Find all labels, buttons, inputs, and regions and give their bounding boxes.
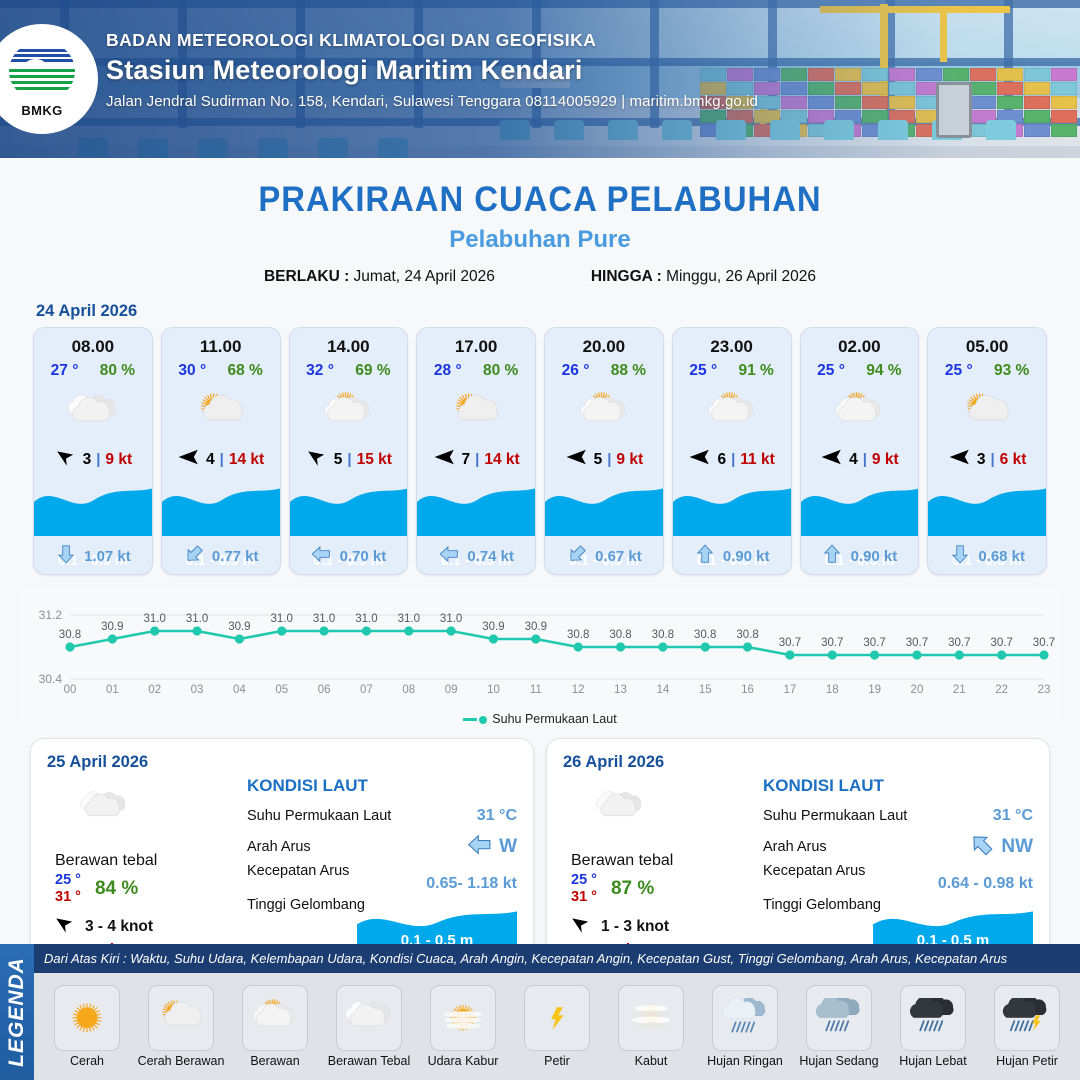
card-temperature: 25 °	[817, 362, 845, 380]
card-wind-direction: 3	[83, 451, 92, 469]
svg-text:30.7: 30.7	[779, 637, 801, 649]
sea-row-current-dir: Arah ArusNW	[763, 831, 1033, 863]
page-title: PRAKIRAAN CUACA PELABUHAN	[32, 180, 1047, 220]
svg-text:30.8: 30.8	[609, 629, 631, 641]
daily-date: 26 April 2026	[563, 753, 1033, 772]
svg-text:30.9: 30.9	[101, 621, 123, 633]
card-humidity: 68 %	[227, 362, 262, 380]
svg-text:05: 05	[275, 684, 288, 696]
svg-text:00: 00	[64, 684, 77, 696]
legend-icon-tile	[994, 985, 1060, 1051]
legend-item-label: Berawan Tebal	[328, 1054, 410, 1068]
svg-text:09: 09	[445, 684, 458, 696]
legend-item-label: Cerah Berawan	[138, 1054, 225, 1068]
legend-icon-tile	[430, 985, 496, 1051]
current-direction-arrow-icon	[183, 543, 205, 570]
legend-items-row: CerahCerah BerawanBerawanBerawan TebalUd…	[34, 973, 1080, 1080]
daily-sea-column: KONDISI LAUTSuhu Permukaan Laut31 °CArah…	[753, 776, 1033, 958]
svg-text:15: 15	[699, 684, 712, 696]
daily-humidity: 84 %	[95, 878, 138, 900]
card-weather-icon	[928, 382, 1046, 444]
card-current-speed: 1.07 kt	[84, 548, 131, 565]
card-time: 02.00	[801, 328, 919, 357]
card-temperature: 26 °	[562, 362, 590, 380]
wind-direction-arrow-icon	[177, 448, 201, 471]
legend-item: Hujan Sedang	[792, 985, 886, 1068]
current-direction-arrow-icon	[310, 543, 332, 570]
legend-item-label: Udara Kabur	[428, 1054, 499, 1068]
legend-area: LEGENDA Dari Atas Kiri : Waktu, Suhu Uda…	[0, 944, 1080, 1080]
sea-row-sst: Suhu Permukaan Laut31 °C	[763, 801, 1033, 831]
forecast-card[interactable]: 23.0025 °91 %6|11 kt0.1 - 0.5 m0.90 kt	[672, 327, 792, 575]
card-current-speed: 0.90 kt	[723, 548, 770, 565]
daily-wind-range: 1 - 3 knot	[601, 918, 669, 936]
svg-text:31.0: 31.0	[144, 613, 166, 625]
legend-item-label: Hujan Petir	[996, 1054, 1058, 1068]
daily-temp-column: 25 °31 °	[571, 872, 597, 905]
svg-text:12: 12	[572, 684, 585, 696]
card-wave-graphic	[34, 480, 152, 536]
card-wind-direction: 7	[462, 451, 471, 469]
sst-value: 31 °C	[993, 807, 1033, 825]
svg-text:11: 11	[530, 684, 542, 696]
daily-wind-arrow-icon	[53, 915, 77, 938]
card-current-speed: 0.67 kt	[595, 548, 642, 565]
card-weather-icon	[417, 382, 535, 444]
svg-text:14: 14	[656, 684, 669, 696]
card-wind-direction: 6	[717, 451, 726, 469]
svg-text:30.9: 30.9	[228, 621, 250, 633]
card-temp-hum: 25 °91 %	[673, 357, 791, 380]
card-wind-separator: |	[220, 451, 224, 468]
daily-wind-row: 3 - 4 knot	[47, 915, 237, 938]
legend-main: Dari Atas Kiri : Waktu, Suhu Udara, Kele…	[34, 944, 1080, 1080]
card-current-row: 0.90 kt	[673, 543, 791, 570]
header-banner: BMKG BADAN METEOROLOGI KLIMATOLOGI DAN G…	[0, 0, 1080, 158]
sst-label: Suhu Permukaan Laut	[247, 808, 391, 824]
card-wind-separator: |	[990, 451, 994, 468]
card-wind-separator: |	[731, 451, 735, 468]
card-time: 08.00	[34, 328, 152, 357]
legend-icon-tile	[524, 985, 590, 1051]
card-wind-direction: 5	[334, 451, 343, 469]
card-temperature: 27 °	[51, 362, 79, 380]
legend-item-label: Hujan Lebat	[899, 1054, 966, 1068]
wind-direction-arrow-icon	[820, 448, 844, 471]
forecast-cards-row: 08.0027 °80 %3|9 kt0.1 - 0.5 m1.07 kt11.…	[0, 327, 1080, 575]
legend-item-label: Hujan Sedang	[799, 1054, 878, 1068]
card-temp-hum: 26 °88 %	[545, 357, 663, 380]
svg-text:30.7: 30.7	[863, 637, 885, 649]
current-dir-value: NW	[1001, 836, 1033, 858]
svg-text:04: 04	[233, 684, 246, 696]
daily-weather-icon	[47, 780, 237, 836]
svg-text:20: 20	[911, 684, 924, 696]
forecast-card[interactable]: 20.0026 °88 %5|9 kt0.1 - 0.5 m0.67 kt	[544, 327, 664, 575]
svg-text:30.8: 30.8	[652, 629, 674, 641]
daily-wind-row: 1 - 3 knot	[563, 915, 753, 938]
svg-text:02: 02	[148, 684, 161, 696]
card-humidity: 80 %	[100, 362, 135, 380]
card-temperature: 32 °	[306, 362, 334, 380]
card-wind-speed: 6 kt	[1000, 451, 1027, 469]
card-wave-graphic	[928, 480, 1046, 536]
svg-text:08: 08	[402, 684, 415, 696]
sea-conditions-title: KONDISI LAUT	[763, 776, 1033, 796]
card-wind-direction: 4	[206, 451, 215, 469]
forecast-card[interactable]: 14.0032 °69 %5|15 kt0.1 - 0.5 m0.70 kt	[289, 327, 409, 575]
svg-text:16: 16	[741, 684, 754, 696]
legend-item: Cerah Berawan	[134, 985, 228, 1068]
card-temperature: 28 °	[434, 362, 462, 380]
card-wind-separator: |	[347, 451, 351, 468]
svg-text:31.0: 31.0	[271, 613, 293, 625]
wind-direction-arrow-icon	[305, 448, 329, 471]
card-wind-row: 6|11 kt	[673, 444, 791, 473]
card-weather-icon	[34, 382, 152, 444]
legend-icon-tile	[900, 985, 966, 1051]
svg-text:22: 22	[995, 684, 1008, 696]
legend-icon-tile	[336, 985, 402, 1051]
svg-text:01: 01	[106, 684, 119, 696]
daily-current-arrow-icon	[968, 831, 995, 863]
svg-text:07: 07	[360, 684, 373, 696]
card-humidity: 88 %	[611, 362, 646, 380]
svg-text:31.0: 31.0	[313, 613, 335, 625]
card-wave-graphic	[290, 480, 408, 536]
sst-value: 31 °C	[477, 807, 517, 825]
legend-icon-tile	[712, 985, 778, 1051]
svg-text:30.4: 30.4	[39, 672, 63, 686]
forecast-card[interactable]: 08.0027 °80 %3|9 kt0.1 - 0.5 m1.07 kt	[33, 327, 153, 575]
card-wave-graphic	[801, 480, 919, 536]
daily-body: Berawan tebal25 °31 °87 %1 - 3 knot10 kt…	[563, 776, 1033, 958]
card-wind-separator: |	[863, 451, 867, 468]
daily-temp-min: 25 °	[55, 872, 81, 889]
forecast-card[interactable]: 11.0030 °68 %4|14 kt0.1 - 0.5 m0.77 kt	[161, 327, 281, 575]
card-current-row: 0.90 kt	[801, 543, 919, 570]
card-weather-icon	[801, 382, 919, 444]
legend-item: Kabut	[604, 985, 698, 1068]
card-weather-icon	[162, 382, 280, 444]
legend-icon-tile	[806, 985, 872, 1051]
card-current-speed: 0.74 kt	[467, 548, 514, 565]
svg-text:30.7: 30.7	[821, 637, 843, 649]
forecast-date: 24 April 2026	[36, 302, 1080, 321]
card-weather-icon	[545, 382, 663, 444]
daily-condition: Berawan tebal	[563, 852, 753, 870]
card-wind-speed: 11 kt	[740, 451, 774, 469]
sea-row-current-dir: Arah ArusW	[247, 831, 517, 863]
legend-icon-tile	[618, 985, 684, 1051]
svg-text:30.9: 30.9	[482, 621, 504, 633]
card-current-row: 0.70 kt	[290, 543, 408, 570]
legend-item-label: Cerah	[70, 1054, 104, 1068]
card-current-row: 0.77 kt	[162, 543, 280, 570]
svg-text:31.0: 31.0	[440, 613, 462, 625]
card-temp-hum: 28 °80 %	[417, 357, 535, 380]
daily-condition: Berawan tebal	[47, 852, 237, 870]
svg-text:10: 10	[487, 684, 500, 696]
daily-wind-range: 3 - 4 knot	[85, 918, 153, 936]
svg-text:23: 23	[1038, 684, 1051, 696]
legend-item-label: Hujan Ringan	[707, 1054, 783, 1068]
legend-item: Hujan Ringan	[698, 985, 792, 1068]
svg-text:30.8: 30.8	[567, 629, 589, 641]
sea-row-current-speed: Kecepatan Arus0.64 - 0.98 kt	[763, 863, 1033, 893]
svg-text:13: 13	[614, 684, 627, 696]
legend-item: Cerah	[40, 985, 134, 1068]
bmkg-logo-mark	[9, 41, 75, 101]
card-wave-graphic	[673, 480, 791, 536]
card-wind-row: 4|14 kt	[162, 444, 280, 473]
legend-side-label: LEGENDA	[5, 957, 29, 1067]
card-temp-hum: 27 °80 %	[34, 357, 152, 380]
current-dir-label: Arah Arus	[763, 839, 827, 855]
header-text-block: BADAN METEOROLOGI KLIMATOLOGI DAN GEOFIS…	[106, 30, 758, 110]
card-wind-speed: 15 kt	[357, 451, 392, 469]
current-direction-arrow-icon	[566, 543, 588, 570]
daily-humidity: 87 %	[611, 878, 654, 900]
card-time: 23.00	[673, 328, 791, 357]
card-wind-row: 3|9 kt	[34, 444, 152, 473]
card-temp-hum: 30 °68 %	[162, 357, 280, 380]
legend-item: Hujan Lebat	[886, 985, 980, 1068]
wind-direction-arrow-icon	[433, 448, 457, 471]
svg-text:31.2: 31.2	[39, 608, 63, 622]
card-time: 11.00	[162, 328, 280, 357]
card-temp-hum: 25 °94 %	[801, 357, 919, 380]
legend-item: Udara Kabur	[416, 985, 510, 1068]
page-subtitle: Pelabuhan Pure	[0, 226, 1080, 254]
svg-text:30.8: 30.8	[694, 629, 716, 641]
sea-row-sst: Suhu Permukaan Laut31 °C	[247, 801, 517, 831]
daily-temp-min: 25 °	[571, 872, 597, 889]
hingga-group: HINGGA : Minggu, 26 April 2026	[591, 268, 816, 286]
card-wind-row: 5|15 kt	[290, 444, 408, 473]
card-wind-direction: 3	[977, 451, 986, 469]
hingga-label: HINGGA :	[591, 268, 662, 285]
current-dir-value: W	[499, 836, 517, 858]
card-current-row: 0.74 kt	[417, 543, 535, 570]
legend-icon-tile	[242, 985, 308, 1051]
legend-item-label: Petir	[544, 1054, 570, 1068]
svg-text:30.7: 30.7	[906, 637, 928, 649]
legend-series-label: Suhu Permukaan Laut	[492, 712, 616, 726]
legend-side-bar: LEGENDA	[0, 944, 34, 1080]
card-wind-speed: 14 kt	[229, 451, 264, 469]
legend-item: Hujan Petir	[980, 985, 1074, 1068]
legend-dot-swatch	[479, 716, 487, 724]
card-current-row: 0.68 kt	[928, 543, 1046, 570]
current-dir-value-group: W	[466, 831, 517, 863]
card-wind-row: 7|14 kt	[417, 444, 535, 473]
card-wind-row: 4|9 kt	[801, 444, 919, 473]
card-humidity: 80 %	[483, 362, 518, 380]
sea-row-current-speed: Kecepatan Arus0.65- 1.18 kt	[247, 863, 517, 893]
svg-text:30.9: 30.9	[525, 621, 547, 633]
validity-row: BERLAKU : Jumat, 24 April 2026 HINGGA : …	[0, 268, 1080, 286]
card-wind-direction: 4	[849, 451, 858, 469]
card-wind-separator: |	[96, 451, 100, 468]
legend-line-swatch	[463, 718, 477, 721]
card-humidity: 94 %	[866, 362, 901, 380]
card-time: 20.00	[545, 328, 663, 357]
svg-text:19: 19	[868, 684, 881, 696]
card-wind-row: 5|9 kt	[545, 444, 663, 473]
card-humidity: 93 %	[994, 362, 1029, 380]
daily-temp-max: 31 °	[571, 889, 597, 906]
berlaku-group: BERLAKU : Jumat, 24 April 2026	[264, 268, 495, 286]
sst-chart: 31.230.430.80030.90131.00231.00330.90431…	[22, 587, 1058, 728]
card-wind-speed: 9 kt	[616, 451, 643, 469]
card-temperature: 30 °	[178, 362, 206, 380]
svg-text:31.0: 31.0	[398, 613, 420, 625]
legend-note: Dari Atas Kiri : Waktu, Suhu Udara, Kele…	[34, 944, 1080, 973]
card-wave-graphic	[417, 480, 535, 536]
wind-direction-arrow-icon	[565, 448, 589, 471]
card-temp-hum: 32 °69 %	[290, 357, 408, 380]
card-temp-hum: 25 °93 %	[928, 357, 1046, 380]
daily-current-arrow-icon	[466, 831, 493, 863]
wind-direction-arrow-icon	[948, 448, 972, 471]
svg-text:03: 03	[191, 684, 204, 696]
card-temperature: 25 °	[689, 362, 717, 380]
card-weather-icon	[673, 382, 791, 444]
station-name: Stasiun Meteorologi Maritim Kendari	[106, 55, 758, 86]
daily-temps-row: 25 °31 °84 %	[47, 872, 237, 905]
forecast-card[interactable]: 17.0028 °80 %7|14 kt0.1 - 0.5 m0.74 kt	[416, 327, 536, 575]
legend-item-label: Berawan	[250, 1054, 299, 1068]
current-direction-arrow-icon	[438, 543, 460, 570]
station-address: Jalan Jendral Sudirman No. 158, Kendari,…	[106, 93, 758, 110]
svg-text:30.7: 30.7	[948, 637, 970, 649]
svg-text:18: 18	[826, 684, 839, 696]
card-wave-graphic	[545, 480, 663, 536]
svg-text:31.0: 31.0	[186, 613, 208, 625]
current-direction-arrow-icon	[821, 543, 843, 570]
wind-direction-arrow-icon	[54, 448, 78, 471]
card-time: 14.00	[290, 328, 408, 357]
current-dir-value-group: NW	[968, 831, 1033, 863]
legend-item: Berawan	[228, 985, 322, 1068]
card-current-row: 0.67 kt	[545, 543, 663, 570]
daily-sea-column: KONDISI LAUTSuhu Permukaan Laut31 °CArah…	[237, 776, 517, 958]
sst-chart-legend: Suhu Permukaan Laut	[22, 712, 1058, 726]
current-dir-label: Arah Arus	[247, 839, 311, 855]
daily-weather-icon	[563, 780, 753, 836]
berlaku-label: BERLAKU :	[264, 268, 349, 285]
card-current-speed: 0.70 kt	[340, 548, 387, 565]
card-humidity: 91 %	[738, 362, 773, 380]
card-wind-speed: 9 kt	[872, 451, 899, 469]
svg-text:06: 06	[318, 684, 331, 696]
current-direction-arrow-icon	[55, 543, 77, 570]
daily-date: 25 April 2026	[47, 753, 517, 772]
card-wind-row: 3|6 kt	[928, 444, 1046, 473]
svg-text:30.7: 30.7	[1033, 637, 1055, 649]
agency-name: BADAN METEOROLOGI KLIMATOLOGI DAN GEOFIS…	[106, 30, 758, 51]
legend-item: Berawan Tebal	[322, 985, 416, 1068]
svg-text:30.8: 30.8	[59, 629, 81, 641]
daily-temp-column: 25 °31 °	[55, 872, 81, 905]
svg-text:31.0: 31.0	[355, 613, 377, 625]
wind-direction-arrow-icon	[688, 448, 712, 471]
card-wave-graphic	[162, 480, 280, 536]
berlaku-value: Jumat, 24 April 2026	[354, 268, 495, 285]
svg-text:21: 21	[953, 684, 966, 696]
daily-wind-arrow-icon	[569, 915, 593, 938]
daily-left-column: Berawan tebal25 °31 °84 %3 - 4 knot13 kt	[47, 776, 237, 958]
legend-item-label: Kabut	[635, 1054, 668, 1068]
legend-icon-tile	[148, 985, 214, 1051]
card-humidity: 69 %	[355, 362, 390, 380]
card-time: 05.00	[928, 328, 1046, 357]
card-temperature: 25 °	[945, 362, 973, 380]
current-direction-arrow-icon	[949, 543, 971, 570]
daily-left-column: Berawan tebal25 °31 °87 %1 - 3 knot10 kt	[563, 776, 753, 958]
hingga-value: Minggu, 26 April 2026	[666, 268, 816, 285]
card-current-row: 1.07 kt	[34, 543, 152, 570]
sst-chart-plot: 31.230.430.80030.90131.00231.00330.90431…	[22, 593, 1058, 710]
sst-label: Suhu Permukaan Laut	[763, 808, 907, 824]
card-time: 17.00	[417, 328, 535, 357]
card-current-speed: 0.77 kt	[212, 548, 259, 565]
legend-icon-tile	[54, 985, 120, 1051]
card-wind-speed: 9 kt	[105, 451, 132, 469]
current-direction-arrow-icon	[694, 543, 716, 570]
card-wind-speed: 14 kt	[484, 451, 519, 469]
forecast-card[interactable]: 05.0025 °93 %3|6 kt0.1 - 0.5 m0.68 kt	[927, 327, 1047, 575]
svg-text:30.8: 30.8	[736, 629, 758, 641]
svg-text:17: 17	[784, 684, 797, 696]
card-wind-separator: |	[607, 451, 611, 468]
card-weather-icon	[290, 382, 408, 444]
bmkg-logo-text: BMKG	[21, 103, 62, 118]
legend-item: Petir	[510, 985, 604, 1068]
sea-conditions-title: KONDISI LAUT	[247, 776, 517, 796]
daily-body: Berawan tebal25 °31 °84 %3 - 4 knot13 kt…	[47, 776, 517, 958]
svg-text:30.7: 30.7	[990, 637, 1012, 649]
forecast-card[interactable]: 02.0025 °94 %4|9 kt0.1 - 0.5 m0.90 kt	[800, 327, 920, 575]
daily-temps-row: 25 °31 °87 %	[563, 872, 753, 905]
card-wind-separator: |	[475, 451, 479, 468]
daily-temp-max: 31 °	[55, 889, 81, 906]
card-wind-direction: 5	[594, 451, 603, 469]
card-current-speed: 0.68 kt	[978, 548, 1025, 565]
card-current-speed: 0.90 kt	[851, 548, 898, 565]
